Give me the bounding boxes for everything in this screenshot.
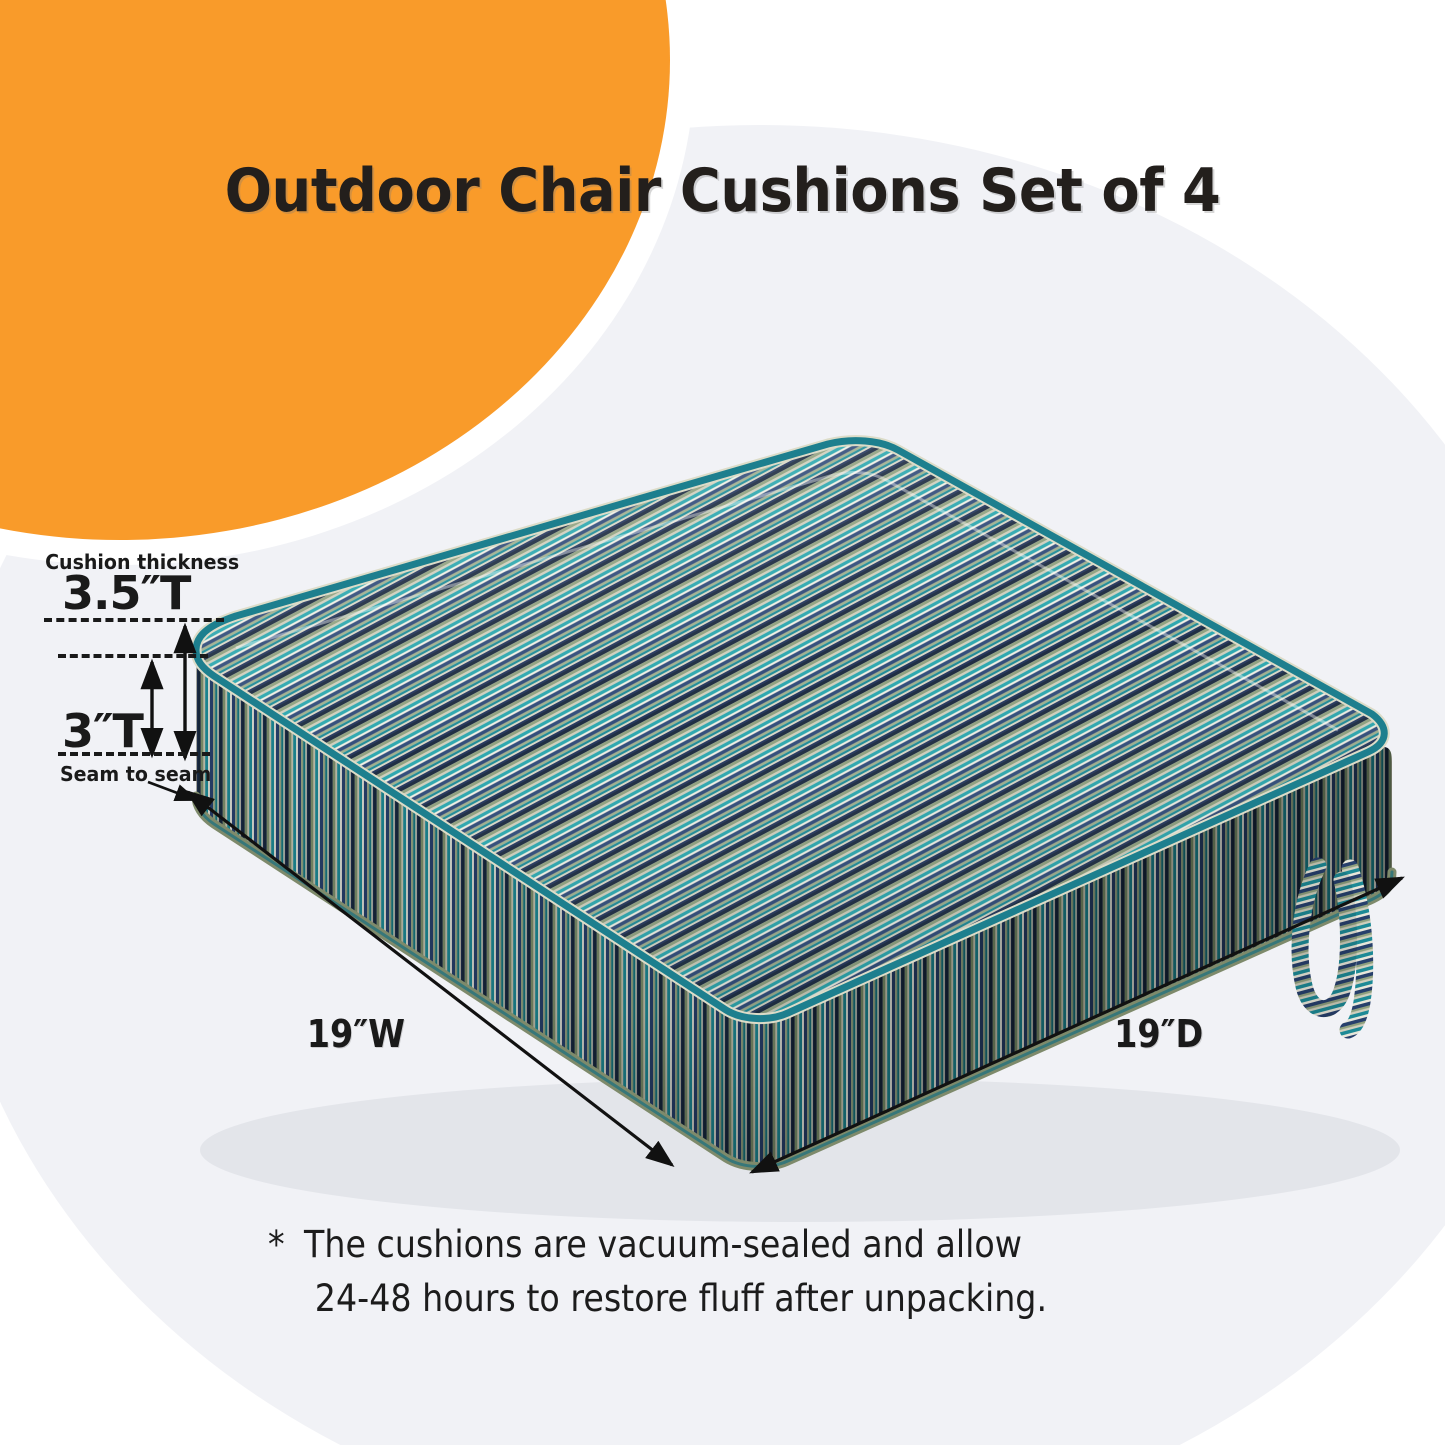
footnote-line-1: The cushions are vacuum-sealed and allow — [304, 1223, 1022, 1266]
footnote: *The cushions are vacuum-sealed and allo… — [268, 1218, 1123, 1325]
seam-to-seam-caption: Seam to seam — [60, 762, 211, 786]
depth-dimension-label: 19″D — [1114, 1012, 1203, 1056]
seam-to-seam-value: 3″T — [62, 704, 143, 758]
footnote-line-2: 24-48 hours to restore fluff after unpac… — [268, 1272, 1123, 1326]
width-dimension-label: 19″W — [307, 1012, 405, 1056]
footnote-marker: * — [268, 1218, 304, 1272]
guide-line-middle — [58, 654, 208, 658]
cushion-thickness-value: 3.5″T — [62, 566, 190, 620]
infographic-canvas: Outdoor Chair Cushions Set of 4 — [0, 0, 1445, 1445]
